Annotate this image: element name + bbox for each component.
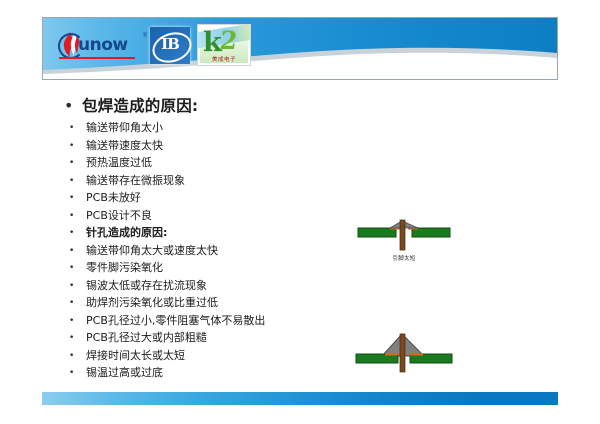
bullet-marker: • [64,173,86,189]
bullet-marker: • [64,348,86,364]
registered-mark: ® [143,33,147,39]
header-logo-group: unow ® IB k 2 美成电子 [57,24,251,66]
slide: unow ® IB k 2 美成电子 [0,0,600,424]
solder-joint-diagram-lead-too-short: 引脚太短 [352,216,456,262]
green-electronics-logo: k 2 美成电子 [197,24,251,66]
bullet-label: 输送带存在微振现象 [86,173,185,189]
bullet-item: • 输送带速度太快 [64,138,324,154]
bullet-item-subheading: • 针孔造成的原因: [64,225,324,241]
diagram-caption: 引脚太短 [352,254,456,262]
bullet-marker: • [64,96,82,116]
flame-icon [57,30,83,60]
solder-joint-diagram-excess-solder [352,328,456,376]
bullet-item: • PCB孔径过大或内部粗糙 [64,330,324,346]
bullet-item: • 输送带存在微振现象 [64,173,324,189]
bullet-marker: • [64,208,86,224]
sunow-underline [59,57,135,59]
bullet-label: 输送带仰角太大或速度太快 [86,243,218,259]
bullet-label: 助焊剂污染氧化或比重过低 [86,295,218,311]
bullet-item: • 预热温度过低 [64,155,324,171]
bullet-item: • 输送带仰角太小 [64,120,324,136]
solder-joint-illustration-1 [352,216,456,252]
bullet-marker: • [64,295,86,311]
bullet-item: • PCB孔径过小,零件阻塞气体不易散出 [64,313,324,329]
bullet-label: 焊接时间太长或太短 [86,348,185,364]
bullet-item: • 锡温过高或过底 [64,365,324,381]
bullet-item: • PCB设计不良 [64,208,324,224]
sunow-wordmark: unow [78,37,128,54]
bullet-item: • PCB未放好 [64,190,324,206]
bullet-item: • 锡波太低或存在扰流现象 [64,278,324,294]
bullet-item: • 零件脚污染氧化 [64,260,324,276]
header-banner: unow ® IB k 2 美成电子 [42,17,558,80]
bullet-label: 包焊造成的原因: [82,96,198,116]
bullet-item: • 焊接时间太长或太短 [64,348,324,364]
logo-ring-icon [58,33,84,59]
bullet-label: 针孔造成的原因: [86,225,167,241]
bullet-marker: • [64,225,86,241]
ib-monogram: IB [150,35,190,53]
bullet-label: PCB设计不良 [86,208,152,224]
bullet-marker: • [64,260,86,276]
bullet-marker: • [64,330,86,346]
sunow-logo: unow ® [57,27,143,63]
bullet-marker: • [64,190,86,206]
bullet-marker: • [64,120,86,136]
bullet-item: • 输送带仰角太大或速度太快 [64,243,324,259]
bullet-label: PCB未放好 [86,190,141,206]
ib-logo: IB [150,27,190,64]
bullet-marker: • [64,243,86,259]
bullet-list: • 包焊造成的原因: • 输送带仰角太小 • 输送带速度太快 • 预热温度过低 … [64,96,324,383]
bullet-label: 输送带仰角太小 [86,120,163,136]
bullet-label: 预热温度过低 [86,155,152,171]
bullet-item: • 包焊造成的原因: [64,96,324,116]
bullet-label: 输送带速度太快 [86,138,163,154]
bullet-label: 零件脚污染氧化 [86,260,163,276]
bullet-item: • 助焊剂污染氧化或比重过低 [64,295,324,311]
bullet-marker: • [64,155,86,171]
solder-joint-illustration-2 [352,328,456,374]
bullet-label: PCB孔径过大或内部粗糙 [86,330,207,346]
green-logo-glyph-right: 2 [218,28,239,53]
bullet-marker: • [64,365,86,381]
bullet-label: 锡波太低或存在扰流现象 [86,278,207,294]
footer-bar [42,392,558,405]
bullet-marker: • [64,138,86,154]
bullet-label: 锡温过高或过底 [86,365,163,381]
bullet-marker: • [64,278,86,294]
green-logo-caption: 美成电子 [198,55,250,63]
bullet-label: PCB孔径过小,零件阻塞气体不易散出 [86,313,265,329]
bullet-marker: • [64,313,86,329]
